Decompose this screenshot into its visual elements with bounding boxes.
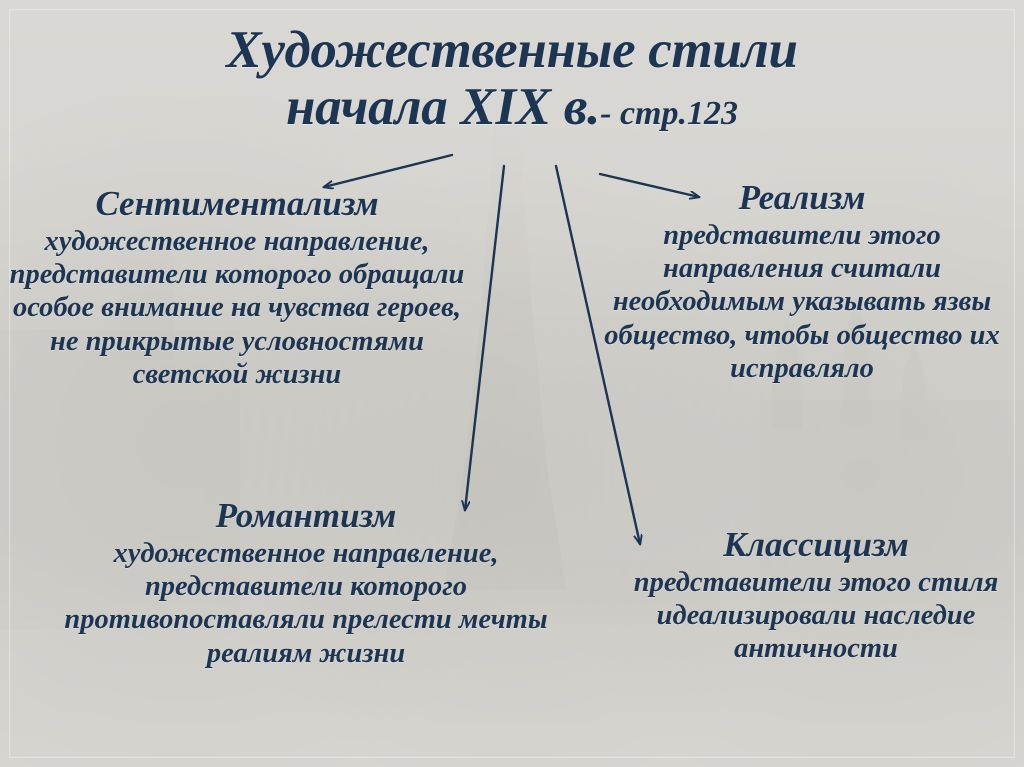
title-line-2-main: начала XIX в. (286, 78, 600, 136)
page-title: Художественные стили начала XIX в.- стр.… (0, 22, 1024, 136)
style-block-romanticism: Романтизм художественное направление, пр… (46, 498, 566, 670)
style-heading-classicism: Классицизм (610, 527, 1022, 564)
title-line-1: Художественные стили (0, 22, 1024, 79)
title-page-reference: - стр.123 (600, 95, 738, 132)
style-description-classicism: представители этого стиля идеализировали… (610, 566, 1022, 666)
style-heading-sentimentalism: Сентиментализм (2, 186, 472, 223)
style-description-sentimentalism: художественное направление, представител… (2, 225, 472, 392)
style-description-realism: представители этого направления считали … (592, 219, 1012, 386)
style-description-romanticism: художественное направление, представител… (46, 537, 566, 670)
slide-canvas: Художественные стили начала XIX в.- стр.… (0, 0, 1024, 767)
style-block-sentimentalism: Сентиментализм художественное направлени… (2, 186, 472, 391)
style-block-classicism: Классицизм представители этого стиля иде… (610, 527, 1022, 666)
title-line-2: начала XIX в.- стр.123 (0, 79, 1024, 136)
arrow-to-sentimentalism (324, 155, 452, 187)
style-heading-realism: Реализм (592, 180, 1012, 217)
style-heading-romanticism: Романтизм (46, 498, 566, 535)
style-block-realism: Реализм представители этого направления … (592, 180, 1012, 385)
